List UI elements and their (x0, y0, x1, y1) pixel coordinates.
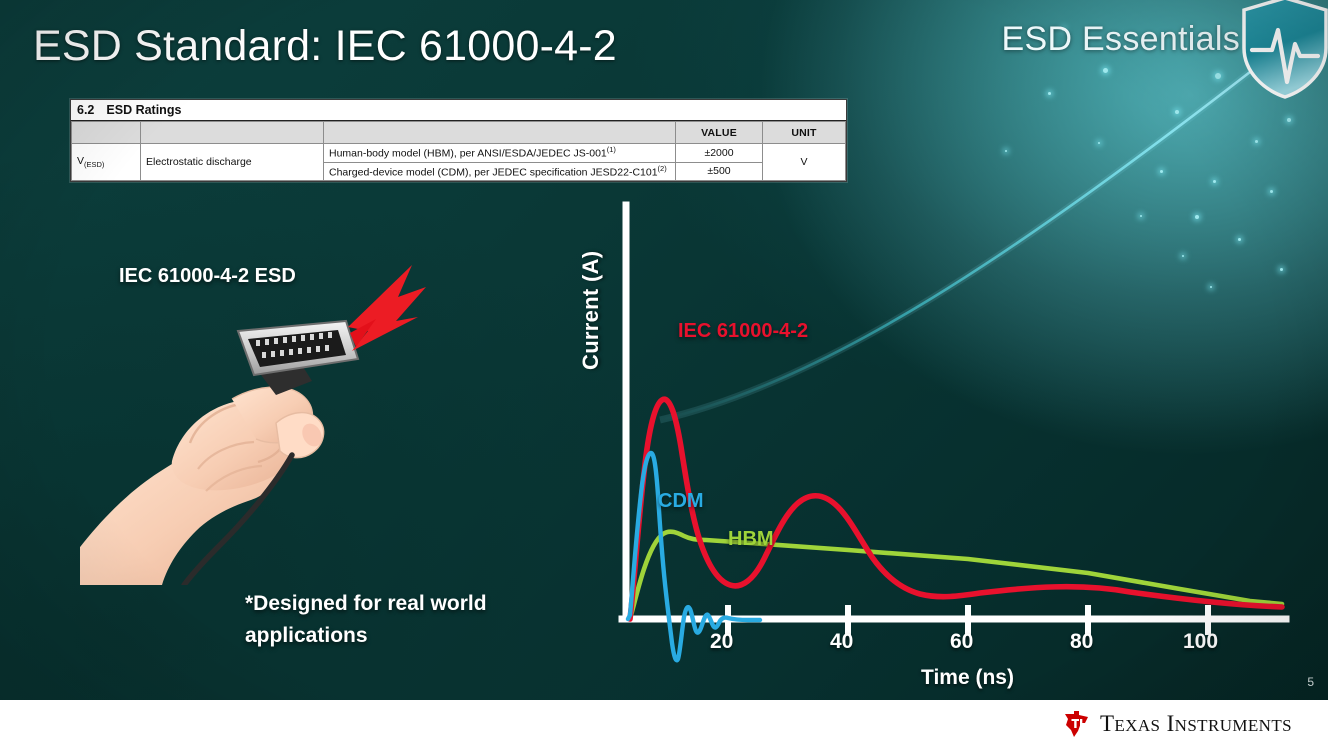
footnote-marker: (2) (658, 164, 667, 173)
ti-word-exas: EXAS (1114, 716, 1160, 735)
table-row: V(ESD) Electrostatic discharge Human-bod… (72, 144, 846, 163)
ti-texas-mark-icon (1061, 709, 1091, 739)
x-tick-label-60: 60 (950, 630, 973, 654)
ti-word-t: T (1100, 711, 1114, 736)
esd-waveform-chart: IEC 61000-4-2 CDM HBM (560, 195, 1300, 695)
ti-word-nstruments: NSTRUMENTS (1175, 716, 1292, 735)
symbol-subscript: (ESD) (84, 160, 104, 169)
particle (1255, 140, 1258, 143)
ti-wordmark: TEXAS INSTRUMENTS (1100, 711, 1292, 737)
x-tick-label-20: 20 (710, 630, 733, 654)
particle (1215, 73, 1221, 79)
table-section-name: ESD Ratings (106, 103, 181, 117)
particle (1213, 180, 1216, 183)
slide-root: ESD Standard: IEC 61000-4-2 ESD Essentia… (0, 0, 1328, 746)
cell-value-cdm: ±500 (676, 162, 763, 181)
x-tick-label-80: 80 (1070, 630, 1093, 654)
cell-unit: V (763, 144, 846, 181)
header-blank-symbol (72, 122, 141, 144)
particle (1270, 190, 1273, 193)
header-unit: UNIT (763, 122, 846, 144)
particle (1048, 92, 1051, 95)
page-number: 5 (1307, 675, 1314, 689)
header-blank-parameter (141, 122, 324, 144)
note-line-2: applications (245, 620, 487, 652)
description-text: Charged-device model (CDM), per JEDEC sp… (329, 166, 658, 178)
chart-x-axis-label: Time (ns) (921, 666, 1014, 690)
footnote-note: *Designed for real world applications (245, 588, 487, 651)
header-value: VALUE (676, 122, 763, 144)
hand-connector-illustration (80, 255, 460, 585)
series-label-iec: IEC 61000-4-2 (678, 320, 808, 342)
particle (1160, 170, 1163, 173)
particle (1103, 68, 1108, 73)
x-tick-label-100: 100 (1183, 630, 1218, 654)
footnote-marker: (1) (607, 145, 616, 154)
cell-description-cdm: Charged-device model (CDM), per JEDEC sp… (324, 162, 676, 181)
table-header-row: VALUE UNIT (72, 122, 846, 144)
ti-word-i: I (1167, 711, 1175, 736)
note-line-1: *Designed for real world (245, 588, 487, 620)
esd-ratings-table: 6.2ESD Ratings VALUE UNIT V(ESD) Electro… (70, 99, 847, 182)
cell-description-hbm: Human-body model (HBM), per ANSI/ESDA/JE… (324, 144, 676, 163)
x-tick-label-40: 40 (830, 630, 853, 654)
particle (1287, 118, 1291, 122)
cell-symbol: V(ESD) (72, 144, 141, 181)
page-title: ESD Standard: IEC 61000-4-2 (33, 22, 617, 71)
brand-label: ESD Essentials (1001, 20, 1240, 59)
table-section-title: 6.2ESD Ratings (71, 100, 846, 121)
description-text: Human-body model (HBM), per ANSI/ESDA/JE… (329, 148, 607, 160)
particle (1098, 142, 1100, 144)
symbol-base: V (77, 155, 84, 167)
header-blank-description (324, 122, 676, 144)
series-label-hbm: HBM (728, 528, 774, 550)
cell-parameter: Electrostatic discharge (141, 144, 324, 181)
table-section-number: 6.2 (77, 103, 94, 117)
shield-pulse-icon (1242, 0, 1328, 100)
cell-value-hbm: ±2000 (676, 144, 763, 163)
series-label-cdm: CDM (658, 490, 704, 512)
texas-instruments-logo: TEXAS INSTRUMENTS (1061, 708, 1292, 740)
particle (1175, 110, 1179, 114)
series-iec-line (630, 399, 1282, 619)
slide-canvas: ESD Standard: IEC 61000-4-2 ESD Essentia… (0, 0, 1328, 700)
particle (1005, 150, 1007, 152)
